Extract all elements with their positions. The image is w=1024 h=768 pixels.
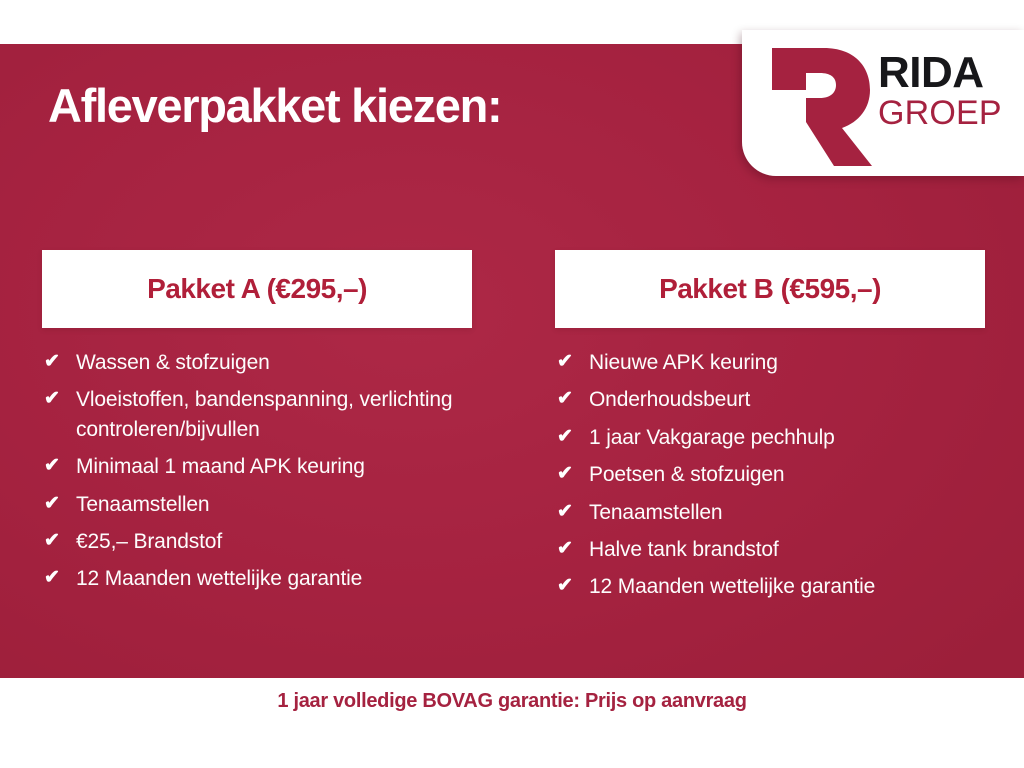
package-a-header: Pakket A (€295,–) — [42, 250, 472, 328]
list-item: ✔ 12 Maanden wettelijke garantie — [42, 564, 472, 593]
package-card-a[interactable]: Pakket A (€295,–) ✔ Wassen & stofzuigen … — [42, 250, 472, 602]
package-a-feature-list: ✔ Wassen & stofzuigen ✔ Vloeistoffen, ba… — [42, 348, 472, 594]
list-item-label: Nieuwe APK keuring — [589, 351, 778, 374]
list-item-label: Onderhoudsbeurt — [589, 388, 750, 411]
list-item: ✔ 1 jaar Vakgarage pechhulp — [555, 423, 985, 452]
list-item: ✔ Tenaamstellen — [42, 490, 472, 519]
list-item-label: 12 Maanden wettelijke garantie — [589, 575, 875, 598]
check-icon: ✔ — [44, 490, 60, 518]
package-columns: Pakket A (€295,–) ✔ Wassen & stofzuigen … — [0, 0, 1024, 768]
check-icon: ✔ — [557, 498, 573, 526]
list-item-label: 12 Maanden wettelijke garantie — [76, 567, 362, 590]
list-item-label: Halve tank brandstof — [589, 538, 779, 561]
check-icon: ✔ — [44, 348, 60, 376]
check-icon: ✔ — [557, 572, 573, 600]
footer-strip: 1 jaar volledige BOVAG garantie: Prijs o… — [0, 678, 1024, 768]
list-item: ✔ Nieuwe APK keuring — [555, 348, 985, 377]
check-icon: ✔ — [44, 385, 60, 413]
check-icon: ✔ — [44, 527, 60, 555]
list-item: ✔ Vloeistoffen, bandenspanning, verlicht… — [42, 385, 472, 444]
list-item-label: Vloeistoffen, bandenspanning, verlichtin… — [76, 388, 452, 440]
package-a-title: Pakket A (€295,–) — [147, 273, 367, 305]
list-item: ✔ Minimaal 1 maand APK keuring — [42, 452, 472, 481]
list-item-label: Minimaal 1 maand APK keuring — [76, 455, 365, 478]
list-item: ✔ Poetsen & stofzuigen — [555, 460, 985, 489]
list-item: ✔ Halve tank brandstof — [555, 535, 985, 564]
check-icon: ✔ — [557, 423, 573, 451]
check-icon: ✔ — [44, 452, 60, 480]
check-icon: ✔ — [557, 535, 573, 563]
slide-canvas: Afleverpakket kiezen: RIDA GROEP Pakket … — [0, 0, 1024, 768]
list-item-label: Wassen & stofzuigen — [76, 351, 270, 374]
check-icon: ✔ — [557, 460, 573, 488]
list-item-label: €25,– Brandstof — [76, 530, 222, 553]
check-icon: ✔ — [557, 385, 573, 413]
list-item: ✔ Onderhoudsbeurt — [555, 385, 985, 414]
package-b-title: Pakket B (€595,–) — [659, 273, 881, 305]
list-item: ✔ Tenaamstellen — [555, 498, 985, 527]
list-item: ✔ Wassen & stofzuigen — [42, 348, 472, 377]
package-b-feature-list: ✔ Nieuwe APK keuring ✔ Onderhoudsbeurt ✔… — [555, 348, 985, 602]
list-item-label: Poetsen & stofzuigen — [589, 463, 784, 486]
package-b-header: Pakket B (€595,–) — [555, 250, 985, 328]
list-item-label: Tenaamstellen — [589, 501, 722, 524]
list-item-label: Tenaamstellen — [76, 493, 209, 516]
check-icon: ✔ — [44, 564, 60, 592]
footer-note: 1 jaar volledige BOVAG garantie: Prijs o… — [0, 690, 1024, 713]
check-icon: ✔ — [557, 348, 573, 376]
package-card-b[interactable]: Pakket B (€595,–) ✔ Nieuwe APK keuring ✔… — [555, 250, 985, 610]
list-item-label: 1 jaar Vakgarage pechhulp — [589, 426, 835, 449]
list-item: ✔ €25,– Brandstof — [42, 527, 472, 556]
list-item: ✔ 12 Maanden wettelijke garantie — [555, 572, 985, 601]
